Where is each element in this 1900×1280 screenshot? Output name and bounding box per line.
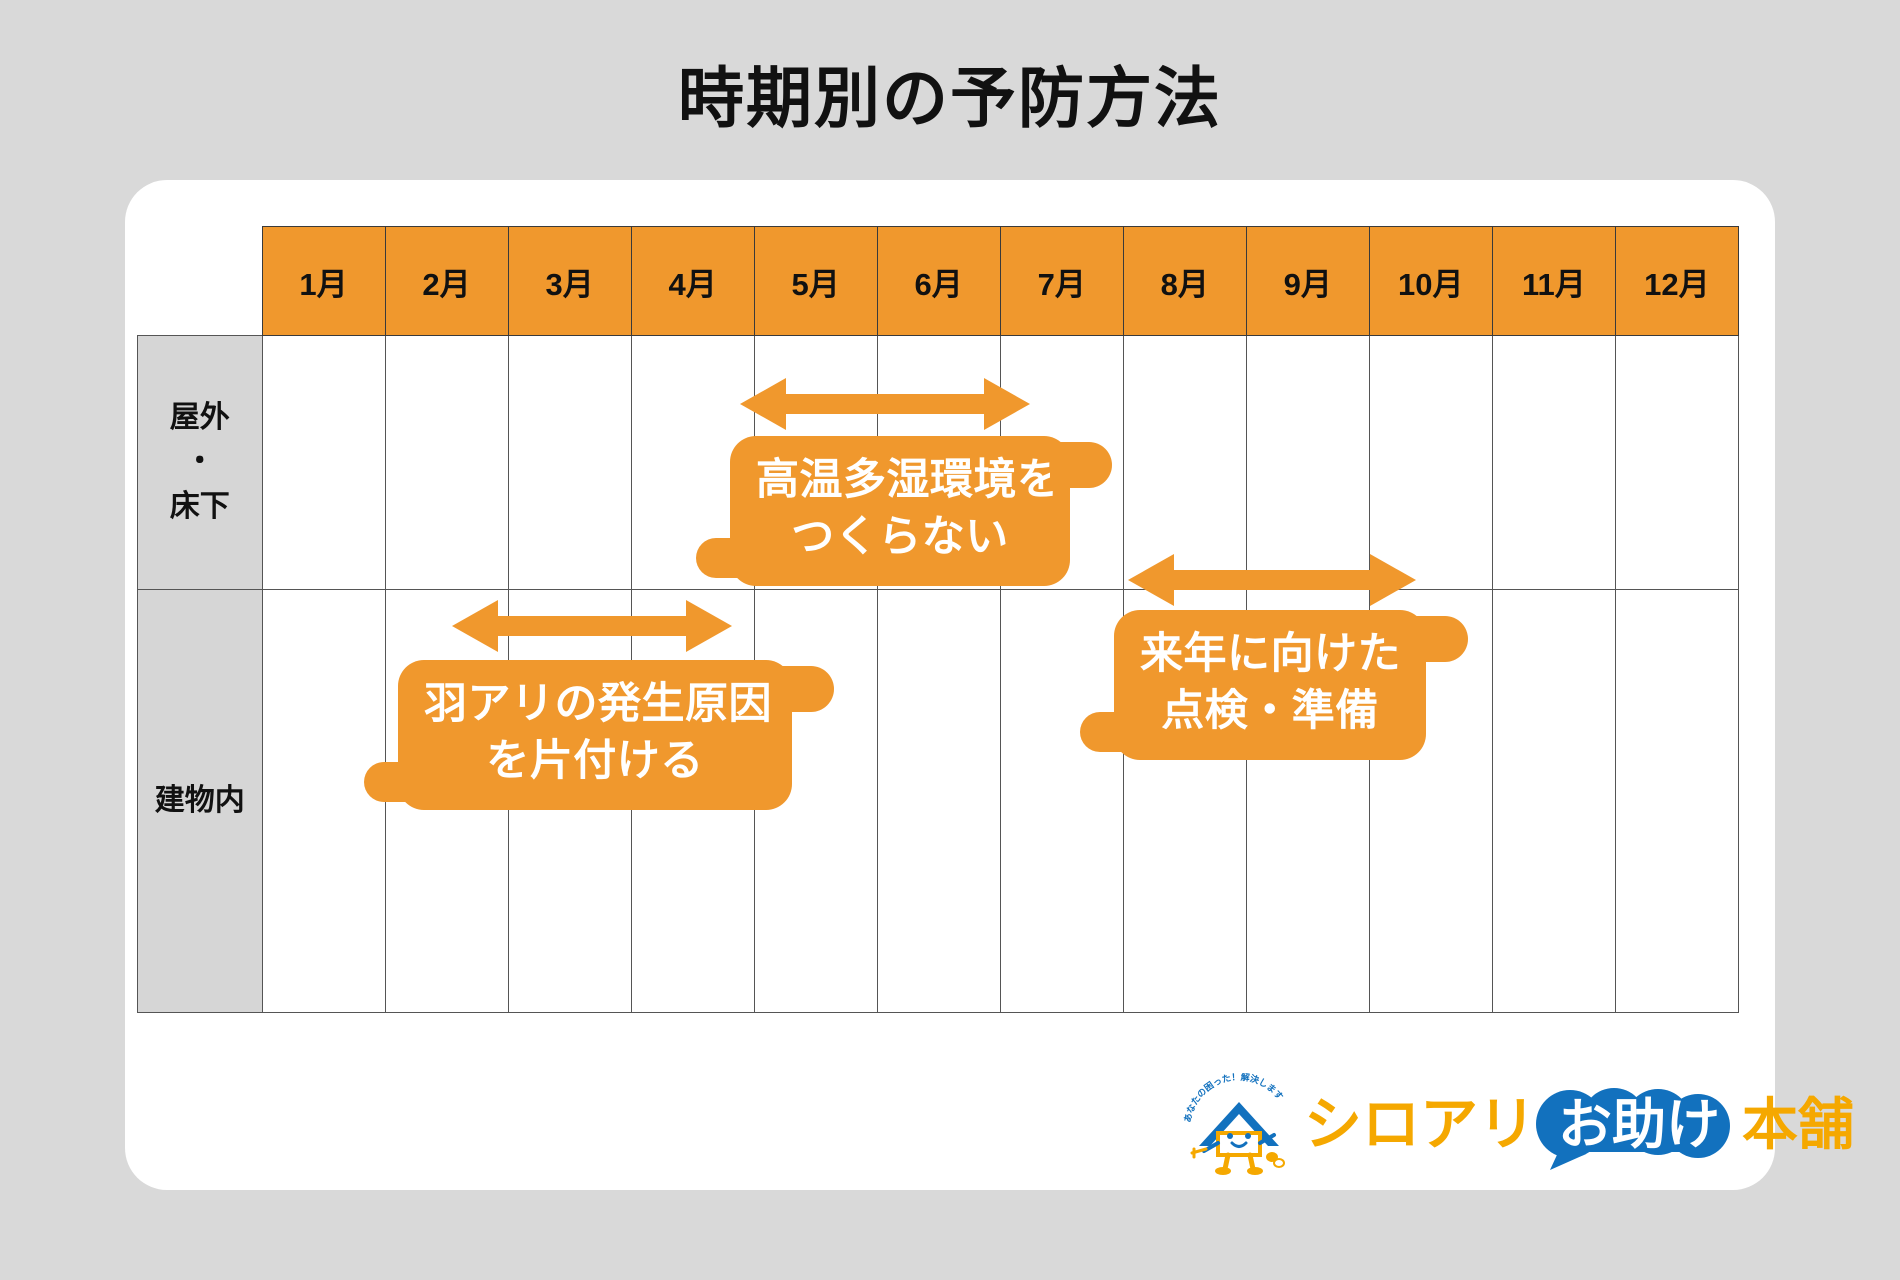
cell-indoor-4	[631, 590, 754, 1013]
house-mascot-icon: あなたの困った！解決します	[1180, 1073, 1298, 1177]
month-header-10: 10月	[1369, 227, 1492, 336]
cell-indoor-7	[1000, 590, 1123, 1013]
cell-indoor-3	[508, 590, 631, 1013]
cell-outdoor-6	[877, 336, 1000, 590]
cell-outdoor-2	[385, 336, 508, 590]
month-header-7: 7月	[1000, 227, 1123, 336]
month-header-9: 9月	[1246, 227, 1369, 336]
cell-outdoor-8	[1123, 336, 1246, 590]
table-corner-cell	[138, 227, 263, 336]
cell-indoor-6	[877, 590, 1000, 1013]
row-label-outdoor-line-1: 屋外	[170, 401, 230, 434]
cell-outdoor-5	[754, 336, 877, 590]
cell-outdoor-3	[508, 336, 631, 590]
cell-indoor-12	[1615, 590, 1738, 1013]
cell-indoor-2	[385, 590, 508, 1013]
table-row-indoor: 建物内	[138, 590, 1739, 1013]
cell-outdoor-9	[1246, 336, 1369, 590]
cell-outdoor-10	[1369, 336, 1492, 590]
page-title: 時期別の予防方法	[0, 62, 1900, 135]
logo-text-shiroari: シロアリ	[1304, 1096, 1536, 1154]
row-label-outdoor-line-3: 床下	[170, 490, 230, 523]
cell-indoor-1	[262, 590, 385, 1013]
cell-outdoor-11	[1492, 336, 1615, 590]
month-header-3: 3月	[508, 227, 631, 336]
cell-outdoor-12	[1615, 336, 1738, 590]
table-header-row: 1月 2月 3月 4月 5月 6月 7月 8月 9月 10月 11月 12月	[138, 227, 1739, 336]
cell-indoor-8	[1123, 590, 1246, 1013]
cell-indoor-10	[1369, 590, 1492, 1013]
month-header-2: 2月	[385, 227, 508, 336]
logo-text-otasuke: お助け	[1544, 1098, 1734, 1152]
table-row-outdoor: 屋外 ・ 床下	[138, 336, 1739, 590]
cell-indoor-5	[754, 590, 877, 1013]
month-header-12: 12月	[1615, 227, 1738, 336]
month-header-6: 6月	[877, 227, 1000, 336]
row-label-indoor: 建物内	[138, 590, 263, 1013]
cell-outdoor-7	[1000, 336, 1123, 590]
cell-outdoor-4	[631, 336, 754, 590]
seasonal-prevention-table: 1月 2月 3月 4月 5月 6月 7月 8月 9月 10月 11月 12月 屋…	[137, 226, 1739, 1013]
month-header-1: 1月	[262, 227, 385, 336]
cell-indoor-9	[1246, 590, 1369, 1013]
row-label-outdoor-line-2: ・	[185, 445, 215, 478]
month-header-4: 4月	[631, 227, 754, 336]
brand-logo: あなたの困った！解決します シロアリ お助け	[1180, 1070, 1854, 1180]
month-header-5: 5月	[754, 227, 877, 336]
logo-otasuke-badge: お助け	[1544, 1098, 1734, 1152]
row-label-outdoor: 屋外 ・ 床下	[138, 336, 263, 590]
cell-outdoor-1	[262, 336, 385, 590]
month-header-11: 11月	[1492, 227, 1615, 336]
cell-indoor-11	[1492, 590, 1615, 1013]
month-header-8: 8月	[1123, 227, 1246, 336]
logo-text-honpo: 本舗	[1742, 1097, 1854, 1153]
